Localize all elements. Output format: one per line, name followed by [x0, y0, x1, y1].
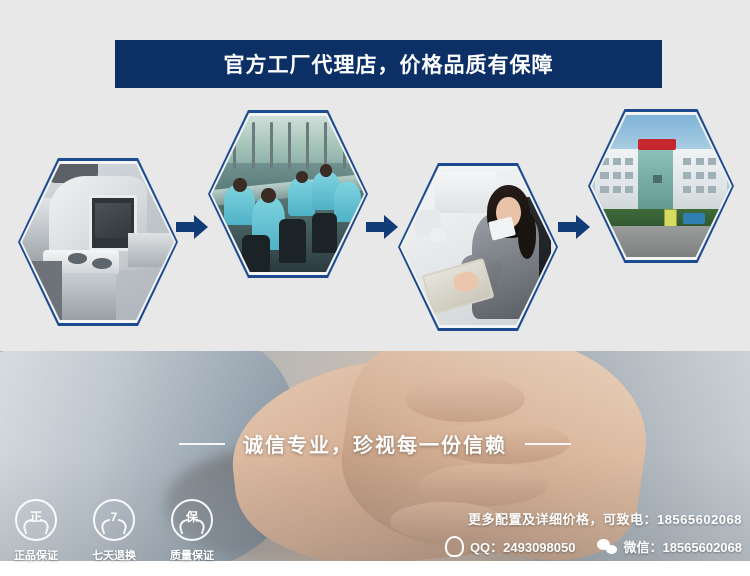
contact-block: 更多配置及详细价格，可致电：18565602068 QQ：2493098050 …: [445, 509, 742, 557]
bottom-section: 诚信专业，珍视每一份信赖 正 正品保证 7 七天退换 保: [0, 351, 750, 576]
arrow-right-icon-1: [176, 215, 210, 239]
badge-seven-day-return: 7 七天退换: [86, 499, 142, 563]
process-step-equipment: [18, 158, 178, 326]
tagline-dash-right: [525, 443, 571, 445]
building-photo: [592, 115, 730, 257]
hands-shape: [179, 522, 205, 533]
process-flow: [0, 95, 750, 345]
hands-holding-icon: 正: [15, 499, 57, 541]
title-banner: 官方工厂代理店，价格品质有保障: [115, 40, 662, 88]
equipment-photo: [22, 164, 174, 320]
process-step-office: [398, 163, 558, 331]
guarantee-badges: 正 正品保证 7 七天退换 保 质量保证: [8, 499, 220, 563]
badge-label: 正品保证: [14, 547, 58, 563]
top-section: 官方工厂代理店，价格品质有保障: [0, 0, 750, 351]
arrow-right-icon-2: [366, 215, 400, 239]
arrow-right-icon-3: [558, 215, 592, 239]
qq-number: QQ：2493098050: [470, 537, 576, 556]
bottom-white-strip: [0, 561, 750, 576]
contact-im-row: QQ：2493098050 微信：18565602068: [445, 536, 742, 557]
tagline-text: 诚信专业，珍视每一份信赖: [243, 429, 507, 458]
hands-shape: [23, 522, 49, 533]
factory-photo: [212, 116, 364, 272]
page-title: 官方工厂代理店，价格品质有保障: [224, 49, 554, 79]
hands-holding-icon: 保: [171, 499, 213, 541]
wechat-number: 微信：18565602068: [623, 537, 742, 556]
badge-label: 七天退换: [92, 547, 136, 563]
process-step-factory: [208, 110, 368, 278]
badge-genuine: 正 正品保证: [8, 499, 64, 563]
process-step-building: [588, 109, 734, 263]
badge-quality: 保 质量保证: [164, 499, 220, 563]
tagline-row: 诚信专业，珍视每一份信赖: [0, 429, 750, 458]
hands-holding-icon: 7: [93, 499, 135, 541]
tagline-dash-left: [179, 443, 225, 445]
wechat-icon: [597, 539, 617, 554]
hands-shape: [101, 522, 127, 533]
office-photo: [402, 169, 554, 325]
promo-page: 官方工厂代理店，价格品质有保障: [0, 0, 750, 576]
qq-penguin-icon: [445, 536, 464, 557]
badge-label: 质量保证: [170, 547, 214, 563]
contact-phone: 更多配置及详细价格，可致电：18565602068: [445, 509, 742, 528]
